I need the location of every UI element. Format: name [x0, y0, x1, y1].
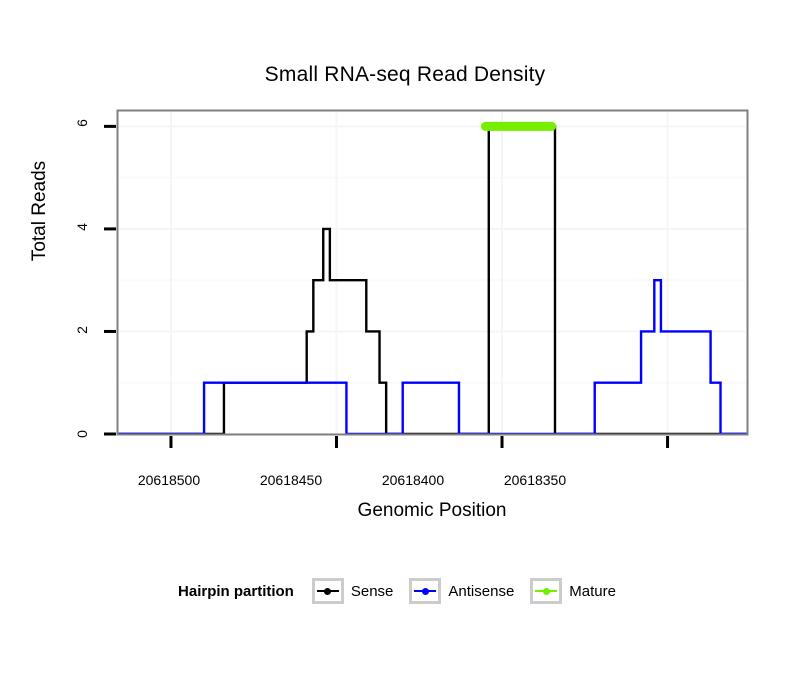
legend-key-antisense-icon	[409, 578, 441, 604]
legend-key-sense-icon	[312, 578, 344, 604]
legend-key-mature-icon	[530, 578, 562, 604]
legend-label-mature: Mature	[569, 583, 616, 600]
chart-figure: Small RNA-seq Read Density Total Reads G…	[0, 0, 810, 690]
legend-title: Hairpin partition	[178, 583, 294, 600]
legend-label-antisense: Antisense	[448, 583, 514, 600]
legend-item-mature[interactable]: Mature	[530, 578, 616, 604]
chart-legend: Hairpin partition Sense Antisense Mature	[0, 578, 810, 604]
panel-border	[118, 111, 748, 435]
gridlines	[119, 112, 746, 434]
legend-item-antisense[interactable]: Antisense	[409, 578, 514, 604]
legend-label-sense: Sense	[351, 583, 394, 600]
series-line-antisense	[118, 280, 747, 434]
legend-item-sense[interactable]: Sense	[312, 578, 394, 604]
